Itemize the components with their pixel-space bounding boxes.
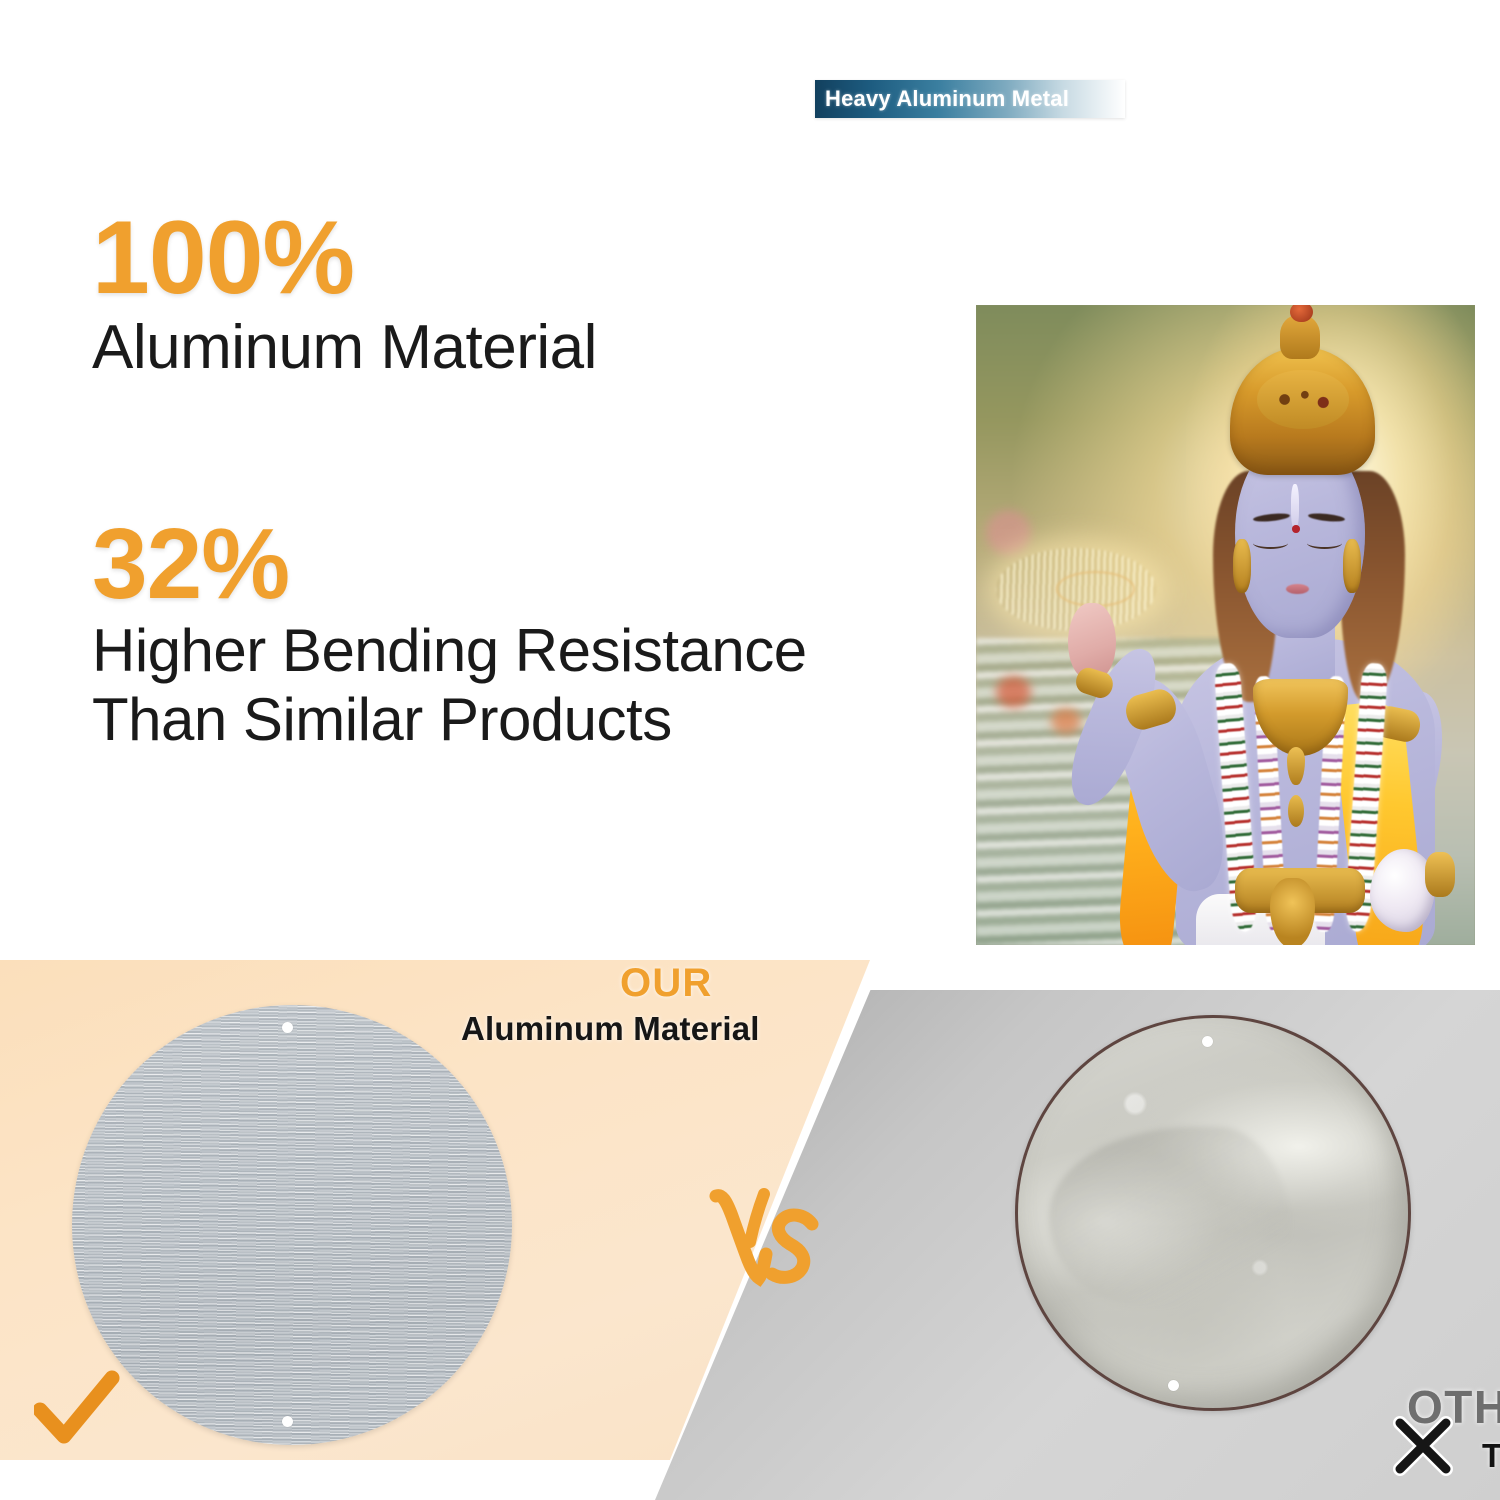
earring-right [1343,539,1361,593]
versus-icon [706,1188,826,1298]
mounting-hole [1168,1380,1179,1391]
chakra-core-ring [1056,571,1135,607]
heavy-aluminum-metal-banner: Heavy Aluminum Metal [815,80,1125,118]
feature-percent: 100% [92,205,992,311]
deity-figure [976,305,1475,945]
feature-label-line: Than Similar Products [92,686,992,753]
mounting-hole [282,1416,293,1427]
mounting-hole [282,1022,293,1033]
our-title: OUR [620,961,713,1006]
eye-left [1253,537,1288,549]
chain-pendant [1288,795,1304,827]
banner-label: Heavy Aluminum Metal [815,86,1069,112]
mounting-hole [1202,1036,1213,1047]
earring-left [1233,539,1251,593]
tin-surface-blemish [1049,1127,1291,1306]
feature-item-bending: 32% Higher Bending Resistance Than Simil… [92,513,992,753]
our-subtitle: Aluminum Material [461,1010,760,1048]
tin-disc-sample [1015,1015,1411,1411]
feature-label-line: Aluminum Material [92,313,992,382]
belt-medallion [1270,878,1315,945]
tilak-mark [1291,484,1299,529]
infographic-page: Heavy Aluminum Metal 100% Aluminum Mater… [0,0,1500,1500]
golden-crown [1230,347,1375,475]
bindi-dot [1292,525,1299,533]
eye-right [1307,537,1342,549]
check-icon [34,1370,120,1450]
hindu-deity-vishnu-photo [976,305,1475,945]
other-subtitle: Tin [1482,1437,1500,1475]
aluminum-disc-sample [72,1005,512,1445]
feature-label-line: Higher Bending Resistance [92,617,992,684]
feature-copy-block: 100% Aluminum Material 32% Higher Bendin… [92,205,992,753]
feature-percent: 32% [92,513,992,615]
conch-hand-ring [1425,852,1455,897]
cross-icon [1392,1415,1454,1477]
feature-item-aluminum: 100% Aluminum Material [92,205,992,383]
